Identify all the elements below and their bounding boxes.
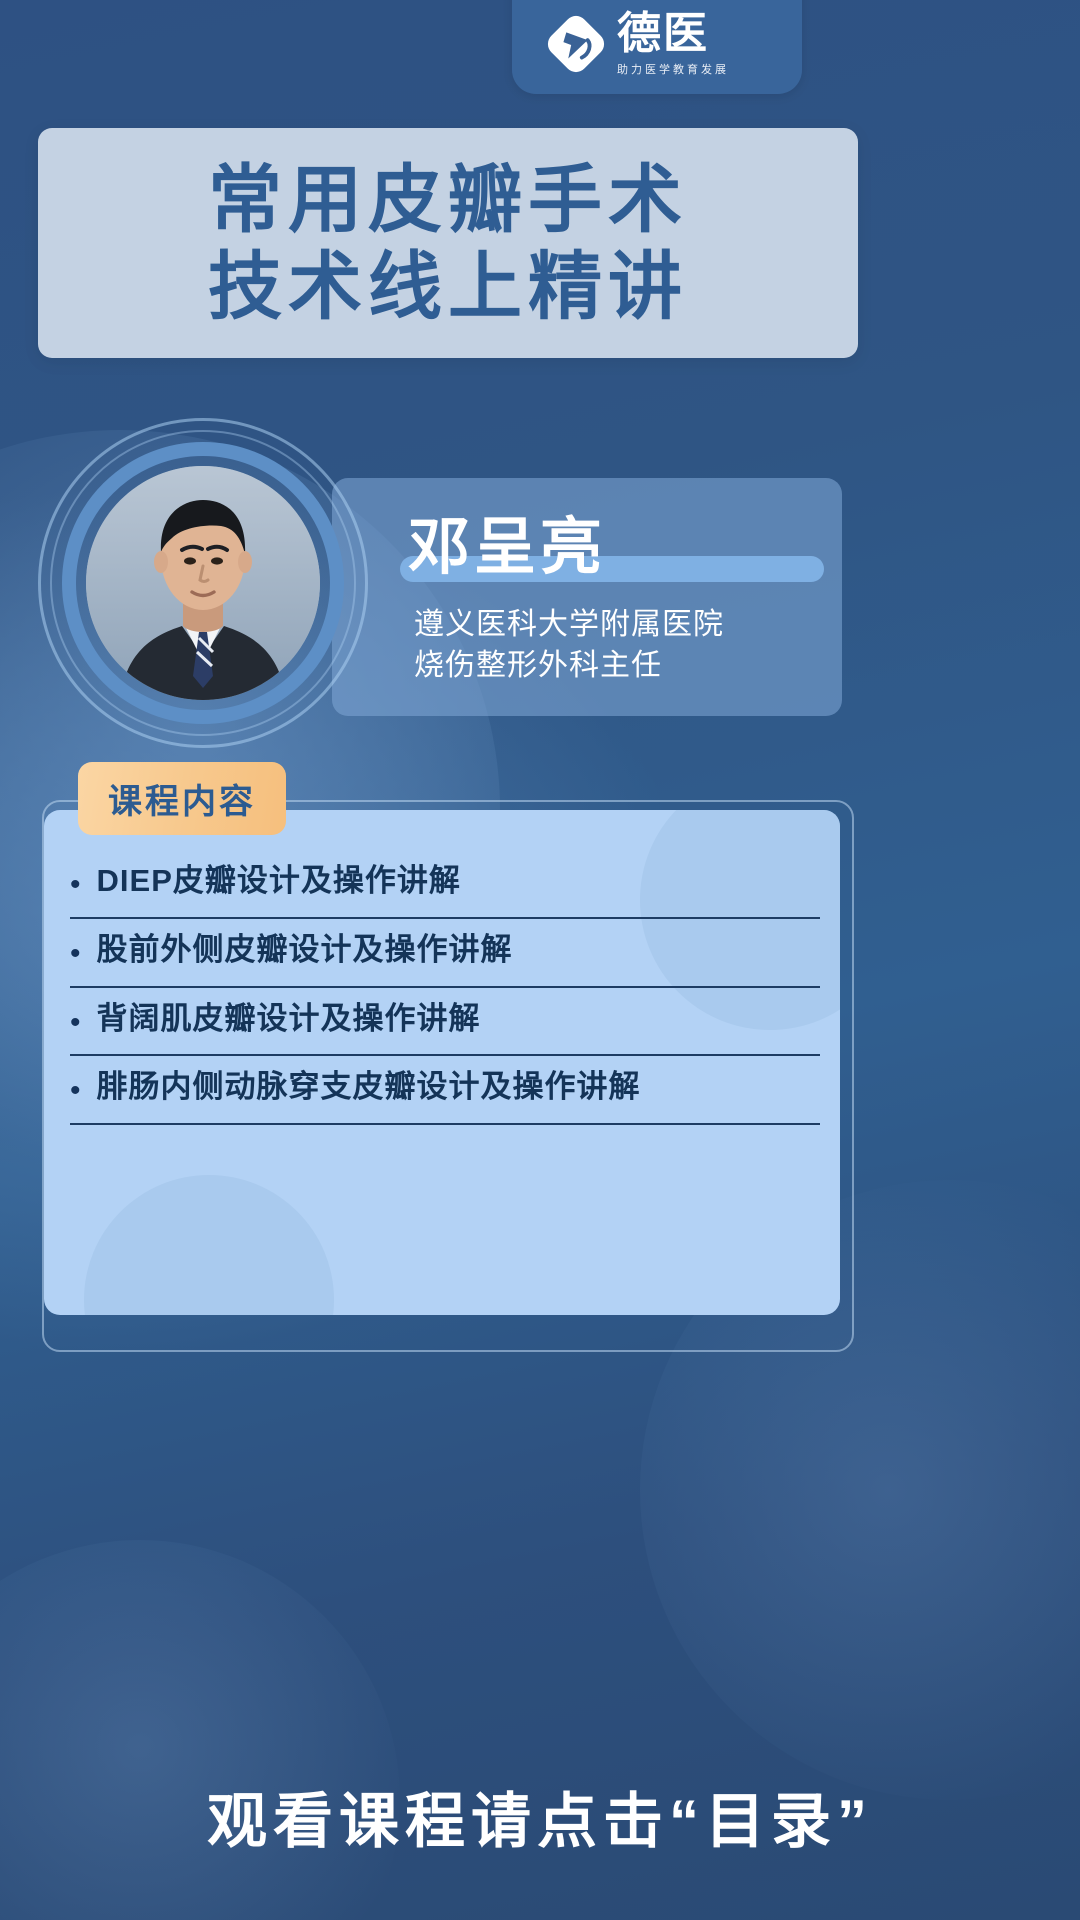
list-item[interactable]: • 腓肠内侧动脉穿支皮瓣设计及操作讲解 — [70, 1056, 820, 1125]
title-line-2: 技术线上精讲 — [208, 243, 688, 330]
affiliation-line-2: 烧伤整形外科主任 — [414, 645, 724, 686]
content-badge: 课程内容 — [78, 762, 286, 835]
poster-root: 德医 助力医学教育发展 常用皮瓣手术 技术线上精讲 — [0, 0, 1080, 1920]
title-line-1: 常用皮瓣手术 — [208, 156, 688, 243]
affiliation-line-1: 遵义医科大学附属医院 — [414, 604, 724, 645]
bullet-icon: • — [70, 1000, 81, 1038]
avatar-photo — [86, 466, 320, 700]
list-item-label: 股前外侧皮瓣设计及操作讲解 — [97, 931, 513, 970]
brand-text: 德医 助力医学教育发展 — [617, 11, 729, 76]
bullet-icon: • — [70, 1068, 81, 1106]
list-item[interactable]: • DIEP皮瓣设计及操作讲解 — [70, 850, 820, 919]
panel-decor-blob-bottom — [84, 1175, 334, 1315]
footer-call-to-action: 观看课程请点击“目录” — [0, 1773, 1080, 1860]
speaker-affiliation: 遵义医科大学附属医院 烧伤整形外科主任 — [414, 604, 724, 687]
play-diamond-icon — [545, 13, 607, 75]
course-list: • DIEP皮瓣设计及操作讲解 • 股前外侧皮瓣设计及操作讲解 • 背阔肌皮瓣设… — [70, 850, 820, 1125]
avatar — [38, 418, 368, 748]
speaker-name: 邓呈亮 — [408, 496, 606, 586]
bullet-icon: • — [70, 862, 81, 900]
brand-tagline: 助力医学教育发展 — [617, 61, 729, 77]
list-item[interactable]: • 背阔肌皮瓣设计及操作讲解 — [70, 988, 820, 1057]
brand-logo: 德医 助力医学教育发展 — [545, 8, 785, 80]
list-item[interactable]: • 股前外侧皮瓣设计及操作讲解 — [70, 919, 820, 988]
list-item-label: 背阔肌皮瓣设计及操作讲解 — [97, 1000, 481, 1039]
decorative-glow-bottom — [0, 1540, 400, 1920]
bullet-icon: • — [70, 931, 81, 969]
footer: 观看课程请点击“目录” — [0, 1773, 1080, 1860]
title-card: 常用皮瓣手术 技术线上精讲 — [38, 128, 858, 358]
list-item-label: 腓肠内侧动脉穿支皮瓣设计及操作讲解 — [97, 1068, 641, 1107]
brand-name: 德医 — [617, 11, 729, 57]
list-item-label: DIEP皮瓣设计及操作讲解 — [97, 862, 461, 901]
